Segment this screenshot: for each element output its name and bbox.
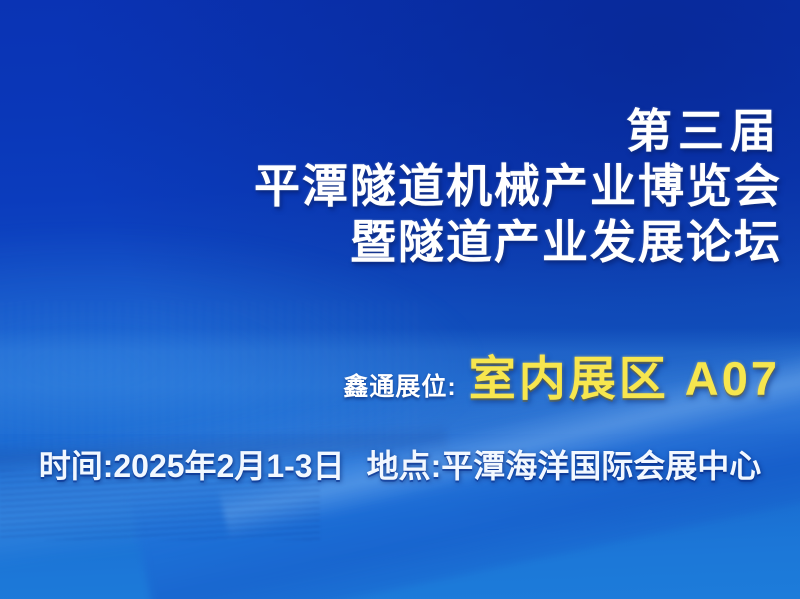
headline-block: 第三届 平潭隧道机械产业博览会 暨隧道产业发展论坛 — [254, 104, 782, 270]
exhibition-banner: 第三届 平潭隧道机械产业博览会 暨隧道产业发展论坛 鑫通展位: 室内展区 A07… — [0, 0, 800, 599]
footer-row: 时间:2025年2月1-3日 地点:平潭海洋国际会展中心 — [0, 441, 800, 487]
event-venue: 地点:平潭海洋国际会展中心 — [367, 441, 762, 487]
banner-content: 第三届 平潭隧道机械产业博览会 暨隧道产业发展论坛 鑫通展位: 室内展区 A07… — [0, 0, 800, 599]
booth-label: 鑫通展位: — [343, 367, 456, 403]
headline-line-edition: 第三届 — [254, 104, 782, 158]
booth-number: 室内展区 A07 — [469, 340, 780, 409]
event-date: 时间:2025年2月1-3日 — [39, 441, 345, 487]
headline-line-forum-name: 暨隧道产业发展论坛 — [254, 214, 782, 270]
booth-row: 鑫通展位: 室内展区 A07 — [343, 340, 780, 409]
headline-line-expo-name: 平潭隧道机械产业博览会 — [254, 158, 782, 214]
